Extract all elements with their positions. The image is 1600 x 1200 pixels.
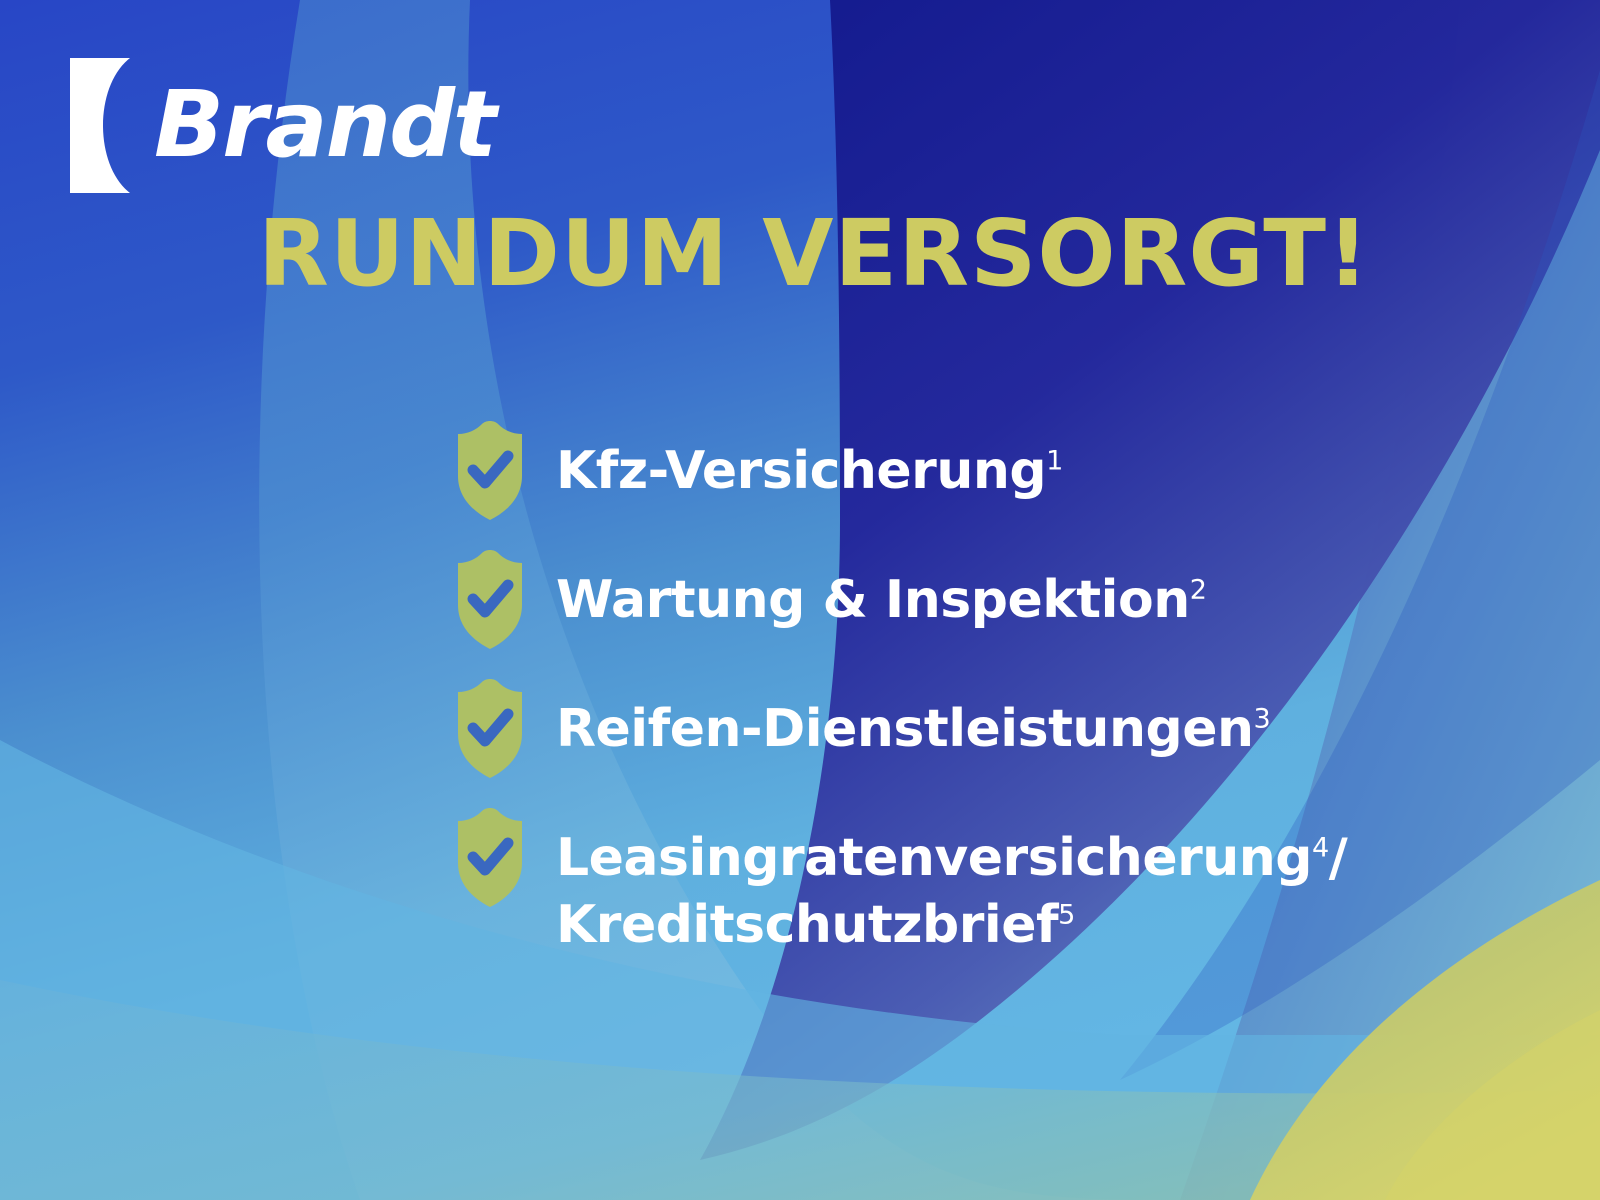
shield-check-icon	[452, 547, 528, 651]
shield-check-icon	[452, 676, 528, 780]
feature-label-1: Wartung & Inspektion2	[528, 547, 1206, 634]
feature-text-1: Wartung & Inspektion	[556, 570, 1190, 630]
shield-check-icon	[452, 805, 528, 909]
promo-banner: Brandt RUNDUM VERSORGT! Kfz-Versicherung…	[0, 0, 1600, 1200]
feature-label-3: Leasingratenversicherung4/ Kreditschutzb…	[528, 805, 1347, 958]
feature-list: Kfz-Versicherung1 Wartung & Inspektion2 …	[452, 418, 1452, 958]
feature-separator-3: /	[1329, 828, 1348, 888]
shield-check-icon	[452, 418, 528, 522]
list-item: Leasingratenversicherung4/ Kreditschutzb…	[452, 805, 1452, 958]
feature-label-0: Kfz-Versicherung1	[528, 418, 1063, 505]
feature-text-3: Leasingratenversicherung	[556, 828, 1312, 888]
list-item: Kfz-Versicherung1	[452, 418, 1452, 522]
footnote-marker-4: 5	[1058, 899, 1075, 930]
bracket-crescent-logo-icon	[70, 58, 148, 193]
feature-text-2: Reifen-Dienstleistungen	[556, 699, 1253, 759]
feature-text-4: Kreditschutzbrief	[556, 895, 1058, 955]
footnote-marker-1: 2	[1190, 575, 1207, 606]
feature-text-0: Kfz-Versicherung	[556, 441, 1046, 501]
brand-logo[interactable]: Brandt	[70, 55, 495, 195]
brand-name: Brandt	[154, 79, 495, 171]
feature-label-2: Reifen-Dienstleistungen3	[528, 676, 1270, 763]
footnote-marker-2: 3	[1253, 704, 1270, 735]
footnote-marker-3: 4	[1312, 833, 1329, 864]
list-item: Reifen-Dienstleistungen3	[452, 676, 1452, 780]
footnote-marker-0: 1	[1046, 446, 1063, 477]
list-item: Wartung & Inspektion2	[452, 547, 1452, 651]
page-title: RUNDUM VERSORGT!	[258, 206, 1370, 303]
